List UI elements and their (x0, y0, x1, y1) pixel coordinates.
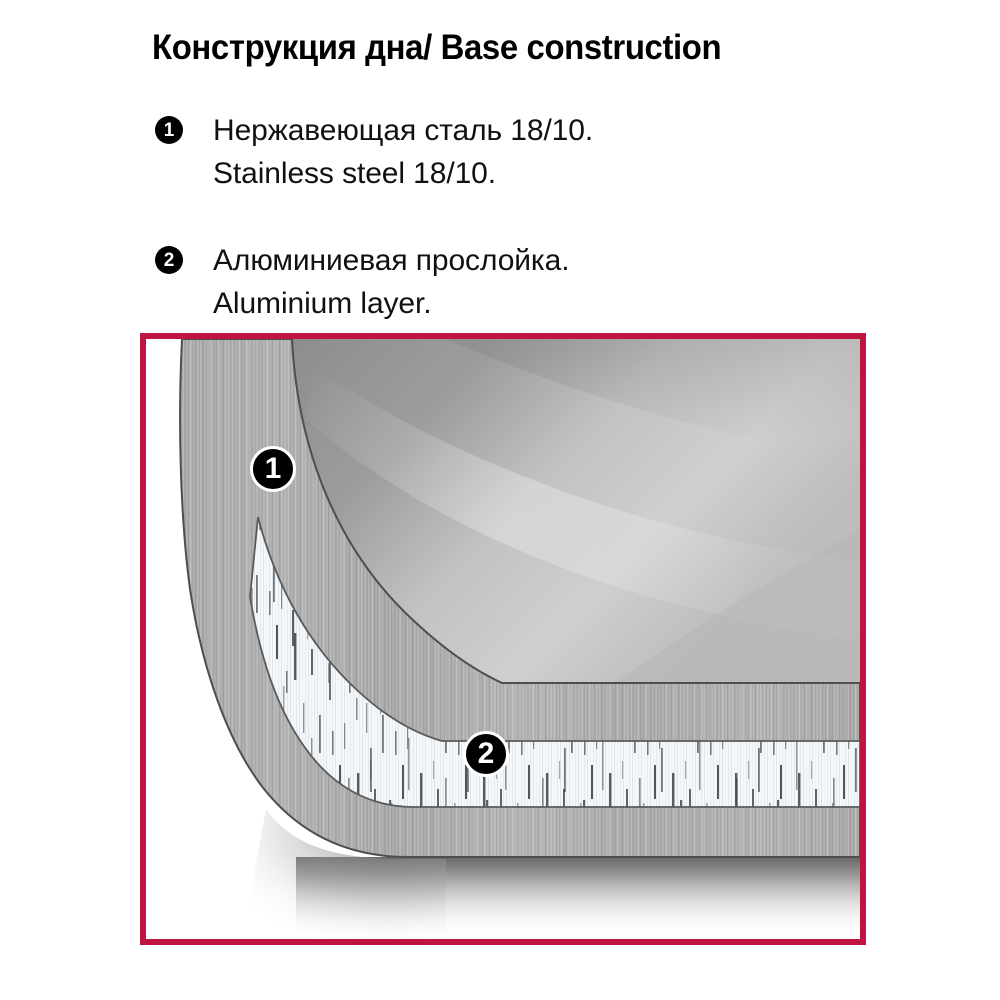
page-root: Конструкция дна/ Base construction 1 Нер… (0, 0, 1000, 1000)
figure-frame: 1 2 (140, 333, 866, 945)
legend-item-2: 2 Алюминиевая прослойка. Aluminium layer… (155, 240, 875, 325)
legend-text-2: Алюминиевая прослойка. Aluminium layer. (213, 240, 875, 325)
legend-badge-2-icon: 2 (155, 246, 183, 274)
legend-line-ru-1: Нержавеющая сталь 18/10. (213, 110, 875, 153)
legend-text-1: Нержавеющая сталь 18/10. Stainless steel… (213, 110, 875, 195)
figure-canvas: 1 2 (146, 339, 860, 939)
figure-callout-badge-2[interactable]: 2 (463, 731, 509, 777)
legend-line-en-2: Aluminium layer. (213, 283, 875, 326)
base-cross-section-illustration (146, 339, 860, 939)
page-title: Конструкция дна/ Base construction (152, 28, 885, 68)
legend-badge-1-icon: 1 (155, 116, 183, 144)
figure-callout-badge-1[interactable]: 1 (250, 446, 296, 492)
legend-item-1: 1 Нержавеющая сталь 18/10. Stainless ste… (155, 110, 875, 195)
legend-line-ru-2: Алюминиевая прослойка. (213, 240, 875, 283)
legend-line-en-1: Stainless steel 18/10. (213, 153, 875, 196)
